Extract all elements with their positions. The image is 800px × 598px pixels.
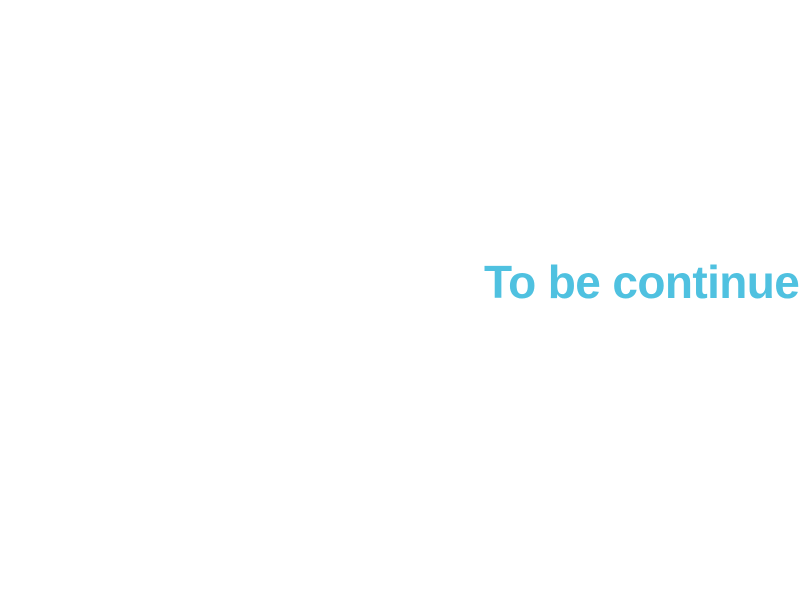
closing-message-text: To be continued — [484, 259, 784, 305]
slide-canvas: To be continued — [0, 0, 800, 598]
